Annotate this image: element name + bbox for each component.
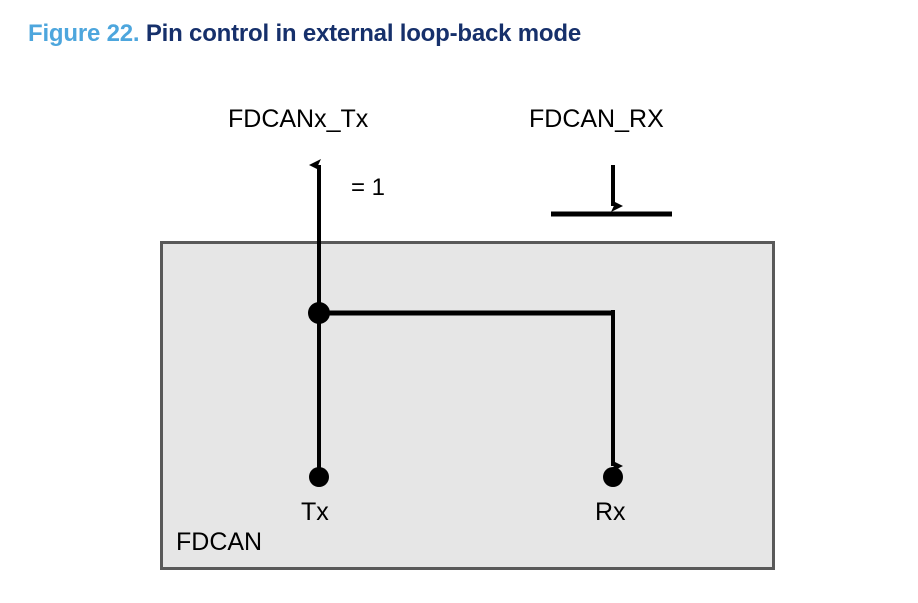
label-tx-internal: Tx [301, 500, 329, 525]
rx-pad-terminal-dot [603, 467, 623, 487]
loopback-junction-dot [308, 302, 330, 324]
fdcan-block-box [162, 243, 774, 569]
tx-pad-terminal-dot [309, 467, 329, 487]
label-rx-internal: Rx [595, 500, 626, 525]
label-fdcanx-tx-pin: FDCANx_Tx [228, 107, 368, 132]
label-tx-drive-value: = 1 [351, 176, 385, 200]
label-fdcan-block: FDCAN [176, 530, 262, 555]
pin-control-diagram [0, 0, 918, 603]
label-fdcan-rx-pin: FDCAN_RX [529, 107, 664, 132]
